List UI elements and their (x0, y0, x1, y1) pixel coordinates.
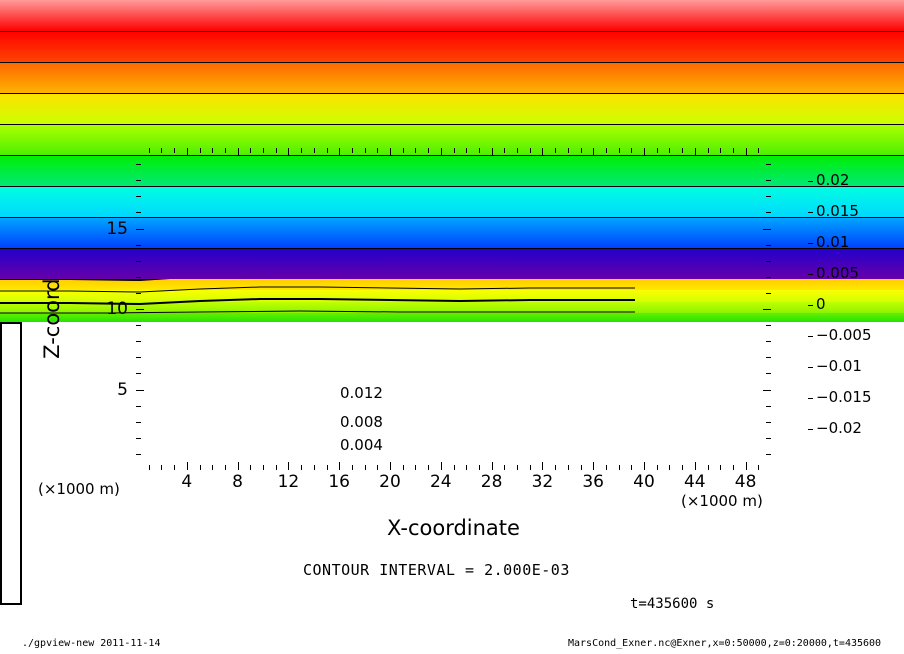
y-axis-tick (136, 277, 141, 278)
y-axis-tick (136, 293, 141, 294)
x-axis-tick (225, 148, 226, 153)
x-axis-tick (758, 148, 759, 153)
x-axis-tick (695, 462, 696, 470)
colorbar-separator (0, 248, 904, 249)
x-axis-tick (428, 465, 429, 470)
x-axis-tick (530, 148, 531, 153)
x-axis-tick (174, 465, 175, 470)
x-axis-tick (644, 462, 645, 470)
y-axis-tick (136, 196, 141, 197)
x-axis-tick (492, 462, 493, 470)
colorbar-tick-label: −0.01 (816, 357, 862, 375)
y-axis-tick (766, 406, 771, 407)
x-axis-tick (619, 148, 620, 153)
x-axis-tick (631, 465, 632, 470)
footer-source: MarsCond_Exner.nc@Exner,x=0:50000,z=0:20… (568, 638, 881, 649)
x-axis-tick (466, 148, 467, 153)
x-axis-tick (327, 148, 328, 153)
x-axis-tick (669, 465, 670, 470)
x-axis-tick (352, 465, 353, 470)
y-axis-tick-label: 5 (84, 380, 128, 400)
x-axis-tick (669, 148, 670, 153)
y-axis-tick (136, 164, 141, 165)
x-axis-tick (746, 148, 747, 156)
x-axis-tick (301, 148, 302, 153)
colorbar-tick-label: −0.005 (816, 326, 872, 344)
x-axis-tick (479, 148, 480, 153)
x-axis-tick (365, 148, 366, 153)
y-axis-tick (766, 454, 771, 455)
x-axis-tick (581, 465, 582, 470)
x-axis-tick (441, 148, 442, 156)
x-axis-tick-label: 48 (716, 472, 776, 492)
y-axis-tick (136, 438, 141, 439)
colorbar-separator (0, 62, 904, 63)
y-axis-tick (766, 164, 771, 165)
x-axis-tick (682, 148, 683, 153)
y-axis-tick (766, 261, 771, 262)
x-axis-tick (542, 148, 543, 156)
contour-interval-note: CONTOUR INTERVAL = 2.000E-03 (303, 561, 570, 579)
time-annotation: t=435600 s (630, 596, 714, 612)
colorbar-tick (808, 181, 813, 182)
colorbar-tick (808, 305, 813, 306)
x-axis-tick (708, 148, 709, 153)
colorbar-tick (808, 398, 813, 399)
x-axis-tick (161, 148, 162, 153)
x-axis-tick (288, 148, 289, 156)
x-axis-tick (733, 148, 734, 153)
colorbar-tick-label: 0.015 (816, 202, 859, 220)
x-axis-tick (657, 465, 658, 470)
y-axis-tick (766, 180, 771, 181)
x-axis-tick (187, 462, 188, 470)
colorbar-band (0, 31, 904, 62)
x-axis-tick (466, 465, 467, 470)
x-axis-tick (593, 462, 594, 470)
x-axis-tick (517, 148, 518, 153)
x-axis-tick (542, 462, 543, 470)
colorbar-tick-label: −0.015 (816, 388, 872, 406)
colorbar-separator (0, 31, 904, 32)
y-axis-tick (766, 438, 771, 439)
y-axis-unit: (×1000 m) (38, 480, 120, 498)
colorbar-separator (0, 93, 904, 94)
x-axis-tick (720, 465, 721, 470)
x-axis-tick (149, 148, 150, 153)
colorbar-band (0, 62, 904, 93)
colorbar-band (0, 217, 904, 248)
x-axis-tick (200, 148, 201, 153)
y-axis-tick (136, 454, 141, 455)
y-axis-tick (766, 245, 771, 246)
contour-label: 0.012 (340, 384, 383, 402)
x-axis-tick (733, 465, 734, 470)
x-axis-tick (593, 148, 594, 156)
y-axis-tick (136, 229, 144, 230)
x-axis-tick (758, 465, 759, 470)
colorbar-tick-label: 0.02 (816, 171, 849, 189)
y-axis-tick (766, 357, 771, 358)
x-axis-tick (250, 465, 251, 470)
x-axis-tick (530, 465, 531, 470)
x-axis-tick (454, 465, 455, 470)
x-axis-tick (746, 462, 747, 470)
colorbar-tick (808, 367, 813, 368)
x-axis-tick (390, 148, 391, 156)
x-axis-tick (377, 465, 378, 470)
colorbar-tick (808, 336, 813, 337)
y-axis-tick (766, 341, 771, 342)
x-axis-tick (517, 465, 518, 470)
x-axis-tick (454, 148, 455, 153)
y-axis-tick (763, 390, 771, 391)
x-axis-tick (708, 465, 709, 470)
x-axis-tick (149, 465, 150, 470)
colorbar-band (0, 155, 904, 186)
x-axis-tick (504, 148, 505, 153)
x-axis-tick (263, 465, 264, 470)
x-axis-title: X-coordinate (236, 516, 671, 540)
y-axis-tick-label: 10 (84, 299, 128, 319)
y-axis-tick (136, 245, 141, 246)
x-axis-tick (263, 148, 264, 153)
y-axis-tick (136, 341, 141, 342)
y-axis-tick (136, 406, 141, 407)
x-axis-tick (568, 148, 569, 153)
x-axis-tick (479, 465, 480, 470)
x-axis-tick (212, 148, 213, 153)
y-axis-tick (763, 229, 771, 230)
x-axis-tick (720, 148, 721, 153)
x-axis-tick (644, 148, 645, 156)
colorbar-separator (0, 186, 904, 187)
y-axis-tick (766, 373, 771, 374)
y-axis-tick (136, 357, 141, 358)
x-axis-tick (161, 465, 162, 470)
x-axis-tick (377, 148, 378, 153)
y-axis-tick (136, 261, 141, 262)
x-axis-tick (238, 462, 239, 470)
x-axis-tick (339, 462, 340, 470)
x-axis-tick (403, 148, 404, 153)
x-axis-tick (327, 465, 328, 470)
footer-command: ./gpview-new 2011-11-14 (22, 638, 160, 649)
colorbar-tick-label: 0.01 (816, 233, 849, 251)
contour-label: 0.008 (340, 413, 383, 431)
colorbar-separator (0, 155, 904, 156)
x-axis-tick (225, 465, 226, 470)
x-axis-tick (250, 148, 251, 153)
x-axis-tick (288, 462, 289, 470)
x-axis-tick (339, 148, 340, 156)
x-axis-tick (631, 148, 632, 153)
y-axis-tick (766, 196, 771, 197)
y-axis-tick (136, 373, 141, 374)
x-axis-tick (415, 148, 416, 153)
x-axis-tick (606, 465, 607, 470)
x-axis-tick (695, 148, 696, 156)
x-axis-tick (581, 148, 582, 153)
x-axis-unit: (×1000 m) (681, 492, 763, 510)
y-axis-tick-label: 15 (84, 219, 128, 239)
colorbar-tick-label: 0.005 (816, 264, 859, 282)
colorbar-band (0, 124, 904, 155)
colorbar-band (0, 0, 904, 31)
x-axis-tick (504, 465, 505, 470)
colorbar-separator (0, 217, 904, 218)
y-axis-tick (136, 212, 141, 213)
x-axis-tick (441, 462, 442, 470)
x-axis-tick (314, 465, 315, 470)
y-axis-tick (766, 293, 771, 294)
y-axis-tick (766, 422, 771, 423)
colorbar-tick (808, 274, 813, 275)
x-axis-tick (606, 148, 607, 153)
y-axis-tick (136, 180, 141, 181)
x-axis-tick (301, 465, 302, 470)
colorbar-tick (808, 429, 813, 430)
x-axis-tick (174, 148, 175, 153)
colorbar-tick-label: 0 (816, 295, 826, 313)
x-axis-tick (555, 148, 556, 153)
contour-label: 0.004 (340, 436, 383, 454)
colorbar-tick (808, 243, 813, 244)
x-axis-tick (238, 148, 239, 156)
colorbar-tick (808, 212, 813, 213)
x-axis-tick (657, 148, 658, 153)
y-axis-tick (136, 325, 141, 326)
x-axis-tick (276, 465, 277, 470)
x-axis-tick (276, 148, 277, 153)
x-axis-tick (415, 465, 416, 470)
y-axis-tick (136, 309, 144, 310)
y-axis-tick (766, 212, 771, 213)
y-axis-tick (136, 390, 144, 391)
colorbar-separator (0, 124, 904, 125)
x-axis-tick (314, 148, 315, 153)
y-axis-tick (766, 277, 771, 278)
x-axis-tick (365, 465, 366, 470)
colorbar-tick-label: −0.02 (816, 419, 862, 437)
x-axis-tick (200, 465, 201, 470)
x-axis-tick (682, 465, 683, 470)
x-axis-tick (187, 148, 188, 156)
x-axis-tick (390, 462, 391, 470)
x-axis-tick (352, 148, 353, 153)
y-axis-tick (136, 422, 141, 423)
colorbar-band (0, 248, 904, 279)
y-axis-tick (763, 309, 771, 310)
x-axis-tick (403, 465, 404, 470)
x-axis-tick (619, 465, 620, 470)
x-axis-tick (428, 148, 429, 153)
x-axis-tick (555, 465, 556, 470)
x-axis-tick (568, 465, 569, 470)
colorbar-band (0, 93, 904, 124)
x-axis-tick (492, 148, 493, 156)
x-axis-tick (212, 465, 213, 470)
y-axis-tick (766, 325, 771, 326)
